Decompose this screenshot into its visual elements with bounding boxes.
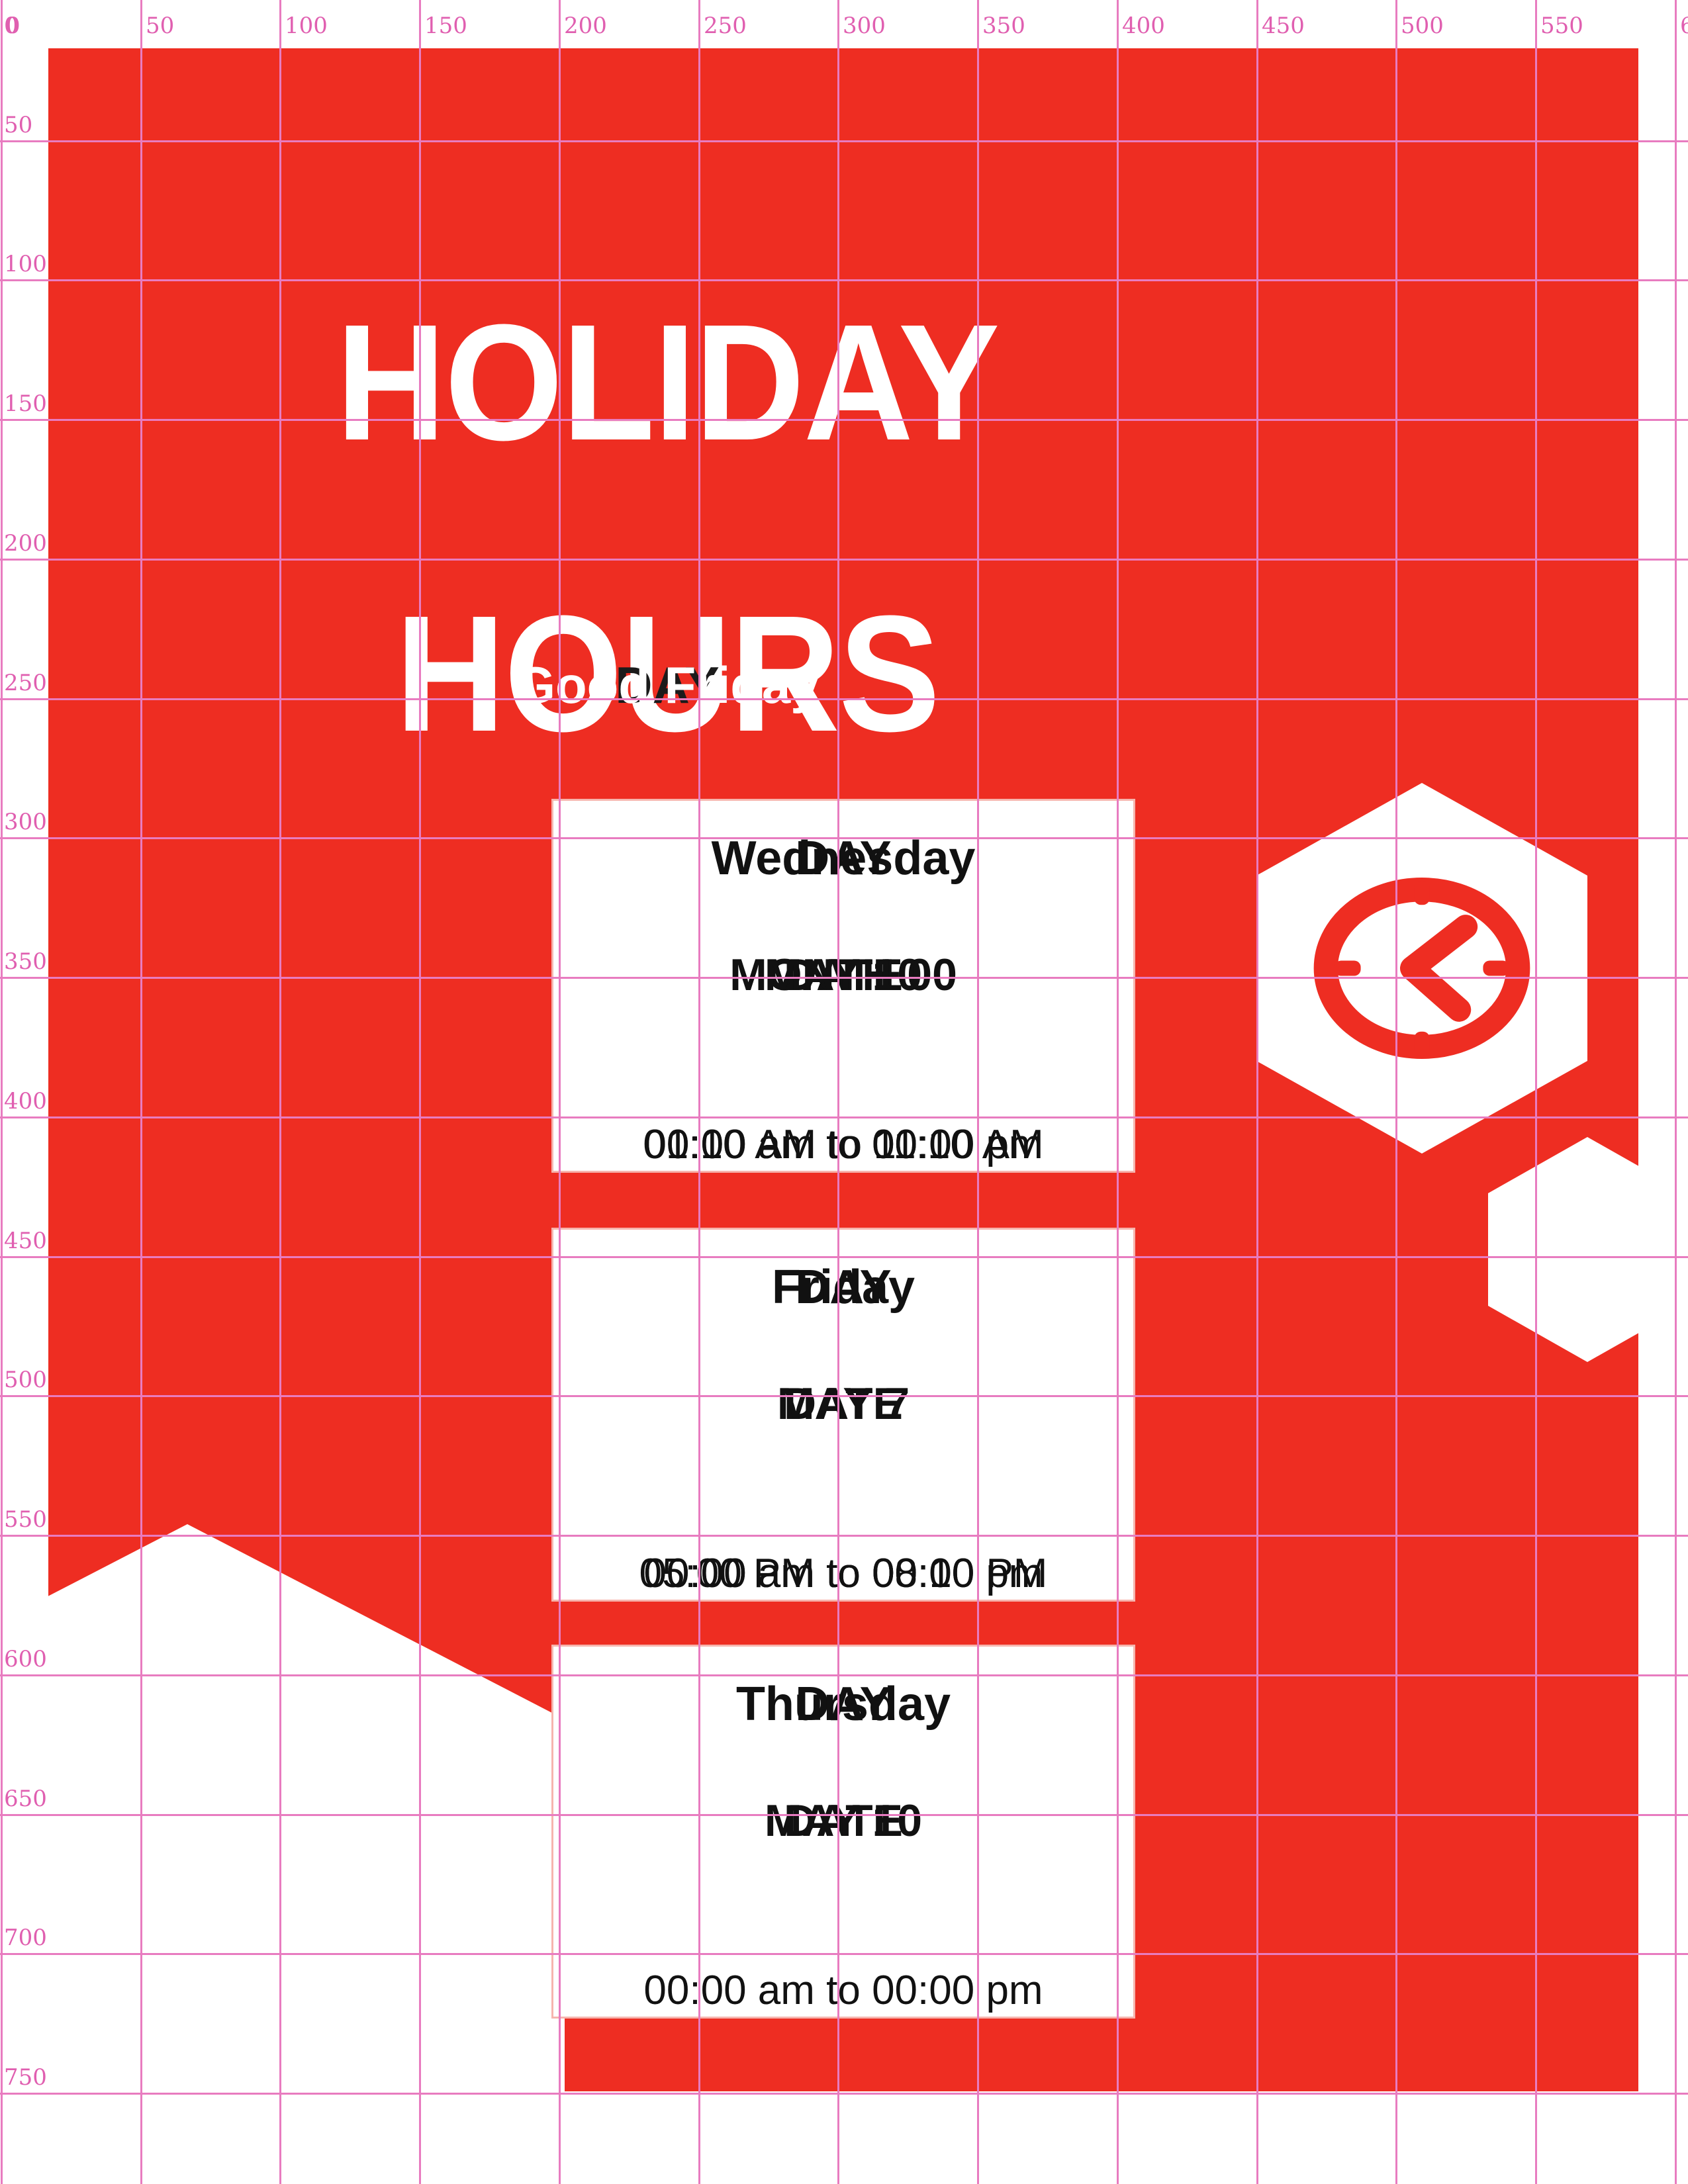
- card-date-stack[interactable]: DATE MONTH 00 MAY 10: [567, 950, 1120, 1023]
- grid-tick-y: 700: [4, 1927, 47, 1949]
- grid-tick-y: 400: [4, 1090, 47, 1113]
- card-time-value[interactable]: 01:10 AM to 11:10 AM: [567, 1122, 1120, 1167]
- grid-line-horizontal: [0, 2093, 1688, 2095]
- grid-tick-x: 550: [1540, 15, 1583, 37]
- grid-tick-x: 300: [843, 15, 886, 37]
- grid-tick-y: 250: [4, 672, 47, 694]
- hours-card[interactable]: DAY Wednesday DATE MONTH 00 MAY 10 00:00…: [551, 799, 1135, 1173]
- grid-tick-y: 50: [4, 114, 32, 136]
- grid-tick-x: 350: [982, 15, 1025, 37]
- grid-tick-y: 200: [4, 532, 47, 555]
- grid-line-vertical: [1675, 0, 1677, 2184]
- grid-tick-x: 250: [704, 15, 747, 37]
- card-date-stack[interactable]: DATE MAY 7: [567, 1379, 1120, 1452]
- card-day-value[interactable]: Friday: [567, 1261, 1120, 1314]
- grid-tick-y: 300: [4, 811, 47, 833]
- card-day-stack[interactable]: DAY Thursday: [567, 1678, 1120, 1758]
- hours-card[interactable]: DAY Friday DATE MAY 7 00:00 am to 00:00 …: [551, 1228, 1135, 1602]
- poster-subtitle-stack[interactable]: DAY Good Friday: [48, 657, 1286, 730]
- card-time-placeholder[interactable]: 00:00 am to 00:00 pm: [567, 1968, 1120, 2013]
- card-day-stack[interactable]: DAY Friday: [567, 1261, 1120, 1341]
- poster-headline[interactable]: HOLIDAY HOURS: [98, 164, 1237, 892]
- card-date-value[interactable]: MAY 7: [567, 1379, 1120, 1429]
- hexagon-shape-small[interactable]: [1488, 1137, 1638, 1362]
- card-date-value[interactable]: MAY 10: [567, 950, 1120, 1000]
- poster-artboard[interactable]: HOLIDAY HOURS DAY Good Friday DAY Wednes…: [48, 48, 1638, 2091]
- headline-line-1: HOLIDAY: [98, 310, 1237, 455]
- grid-tick-x: 0: [6, 15, 21, 37]
- card-day-value[interactable]: Wednesday: [567, 833, 1120, 885]
- grid-tick-y: 500: [4, 1369, 47, 1391]
- grid-tick-x: 100: [285, 15, 328, 37]
- card-day-stack[interactable]: DAY Wednesday: [567, 833, 1120, 912]
- card-time-stack[interactable]: 00:00 am to 00:00 pm 00:00 am to 00:00 p…: [567, 1551, 1120, 1617]
- grid-tick-origin: 0: [4, 15, 19, 37]
- card-time-stack[interactable]: 00:00 am to 00:00 pm 00:00 am to 00:00 p…: [567, 1122, 1120, 1189]
- clock-icon: [1313, 859, 1531, 1077]
- hours-card[interactable]: DAY Thursday DATE MAY 10 00:00 am to 00:…: [551, 1645, 1135, 2019]
- clock-badge-hexagon[interactable]: [1256, 783, 1587, 1154]
- card-time-value[interactable]: 05:00 PM to 08:10 PM: [567, 1551, 1120, 1596]
- hexagon-shape-large[interactable]: [48, 1524, 565, 2091]
- grid-tick-x: 50: [146, 15, 174, 37]
- card-day-value[interactable]: Thursday: [567, 1678, 1120, 1731]
- design-canvas: HOLIDAY HOURS DAY Good Friday DAY Wednes…: [0, 0, 1688, 2184]
- card-date-value[interactable]: MAY 10: [567, 1796, 1120, 1846]
- grid-tick-y: 750: [4, 2066, 47, 2089]
- grid-tick-y: 100: [4, 253, 47, 275]
- grid-tick-x: 200: [564, 15, 607, 37]
- grid-tick-y: 550: [4, 1508, 47, 1531]
- grid-tick-y: 650: [4, 1788, 47, 1810]
- grid-tick-y: 150: [4, 392, 47, 415]
- grid-line-vertical: [1, 0, 3, 2184]
- grid-tick-y: 450: [4, 1230, 47, 1252]
- card-date-stack[interactable]: DATE MAY 10: [567, 1796, 1120, 1869]
- card-time-stack[interactable]: 00:00 am to 00:00 pm: [567, 1968, 1120, 2034]
- grid-tick-y: 350: [4, 950, 47, 973]
- grid-tick-x: 600: [1680, 15, 1688, 37]
- grid-tick-x: 150: [424, 15, 467, 37]
- grid-tick-y: 600: [4, 1648, 47, 1670]
- grid-tick-x: 450: [1262, 15, 1305, 37]
- grid-tick-x: 400: [1122, 15, 1165, 37]
- subtitle-value[interactable]: Good Friday: [48, 657, 1286, 714]
- grid-tick-x: 500: [1401, 15, 1444, 37]
